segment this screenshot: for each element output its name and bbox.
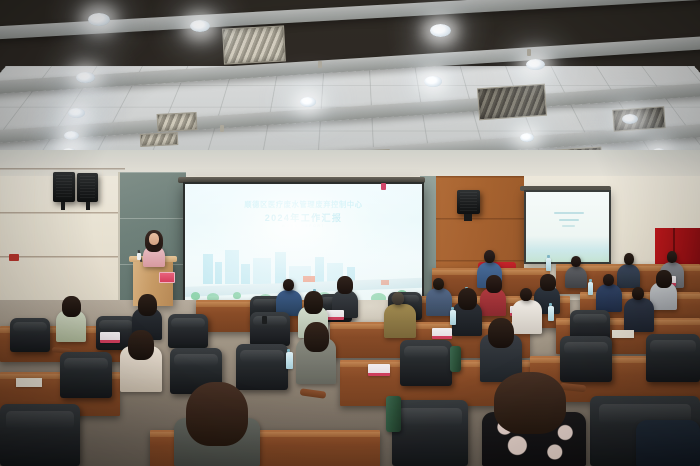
water-bottle <box>548 306 554 321</box>
water-cup <box>137 253 141 260</box>
speaker-mount <box>464 214 472 221</box>
slide-subtitle: 2024年工作汇报 <box>185 211 422 224</box>
ceiling-downlight <box>424 76 442 87</box>
document-paper <box>16 378 42 387</box>
chair <box>400 340 452 386</box>
ceiling-downlight <box>76 72 95 83</box>
wall-speaker <box>53 172 75 202</box>
chair <box>0 404 80 466</box>
chair <box>236 344 288 390</box>
ceiling-air-vent <box>157 112 198 132</box>
mobile-phone <box>262 316 267 324</box>
ceiling-air-vent <box>612 106 665 132</box>
ceiling-air-vent <box>477 84 547 121</box>
water-bottle <box>450 310 456 325</box>
chair <box>250 312 290 346</box>
slide-tagline: WORK REPORT <box>185 224 422 228</box>
chair <box>560 336 612 382</box>
thermos-flask <box>450 346 461 372</box>
speaker-mount <box>61 202 65 210</box>
chair <box>392 400 468 466</box>
sprinkler-head <box>318 61 322 68</box>
water-bottle <box>286 352 293 369</box>
document-paper <box>612 330 634 338</box>
water-bottle <box>588 282 593 295</box>
ceiling-downlight <box>68 108 85 118</box>
slide-city-illustration <box>185 244 422 306</box>
ceiling-downlight <box>190 20 210 32</box>
sprinkler-head <box>527 49 531 56</box>
ceiling-downlight <box>520 133 534 142</box>
chair <box>10 318 50 352</box>
screen-indicator-light <box>381 183 386 190</box>
name-card <box>432 328 452 339</box>
slide-title: 顺德区医疗废水管理废弃控制中心 <box>185 200 422 210</box>
name-card <box>100 332 120 343</box>
water-bottle <box>546 258 551 271</box>
wall-speaker <box>457 190 480 214</box>
ceiling-downlight <box>622 114 638 124</box>
name-card <box>326 310 344 320</box>
ceiling-air-vent <box>140 132 179 147</box>
main-projection-screen[interactable]: 顺德区医疗废水管理废弃控制中心 2024年工作汇报 WORK REPORT <box>183 182 424 308</box>
ceiling-downlight <box>88 13 110 26</box>
chair <box>168 314 208 348</box>
speaker-mount <box>86 202 90 210</box>
aux-slide-city <box>526 236 609 262</box>
wall-speaker <box>77 173 98 202</box>
podium-placard <box>159 272 175 283</box>
ceiling-downlight <box>526 59 545 70</box>
exit-sign <box>9 254 19 261</box>
ceiling-downlight <box>300 97 316 107</box>
conference-room-photo: 顺德区医疗废水管理废弃控制中心 2024年工作汇报 WORK REPORT <box>0 0 700 466</box>
ceiling-air-vent <box>222 25 286 64</box>
ceiling-downlight <box>430 24 451 37</box>
thermos-flask <box>386 396 401 432</box>
chair <box>60 352 112 398</box>
name-card <box>368 364 390 376</box>
chair <box>646 334 700 382</box>
auxiliary-projection-screen[interactable] <box>524 190 611 264</box>
ceiling-downlight <box>64 131 79 140</box>
sprinkler-head <box>220 125 224 132</box>
